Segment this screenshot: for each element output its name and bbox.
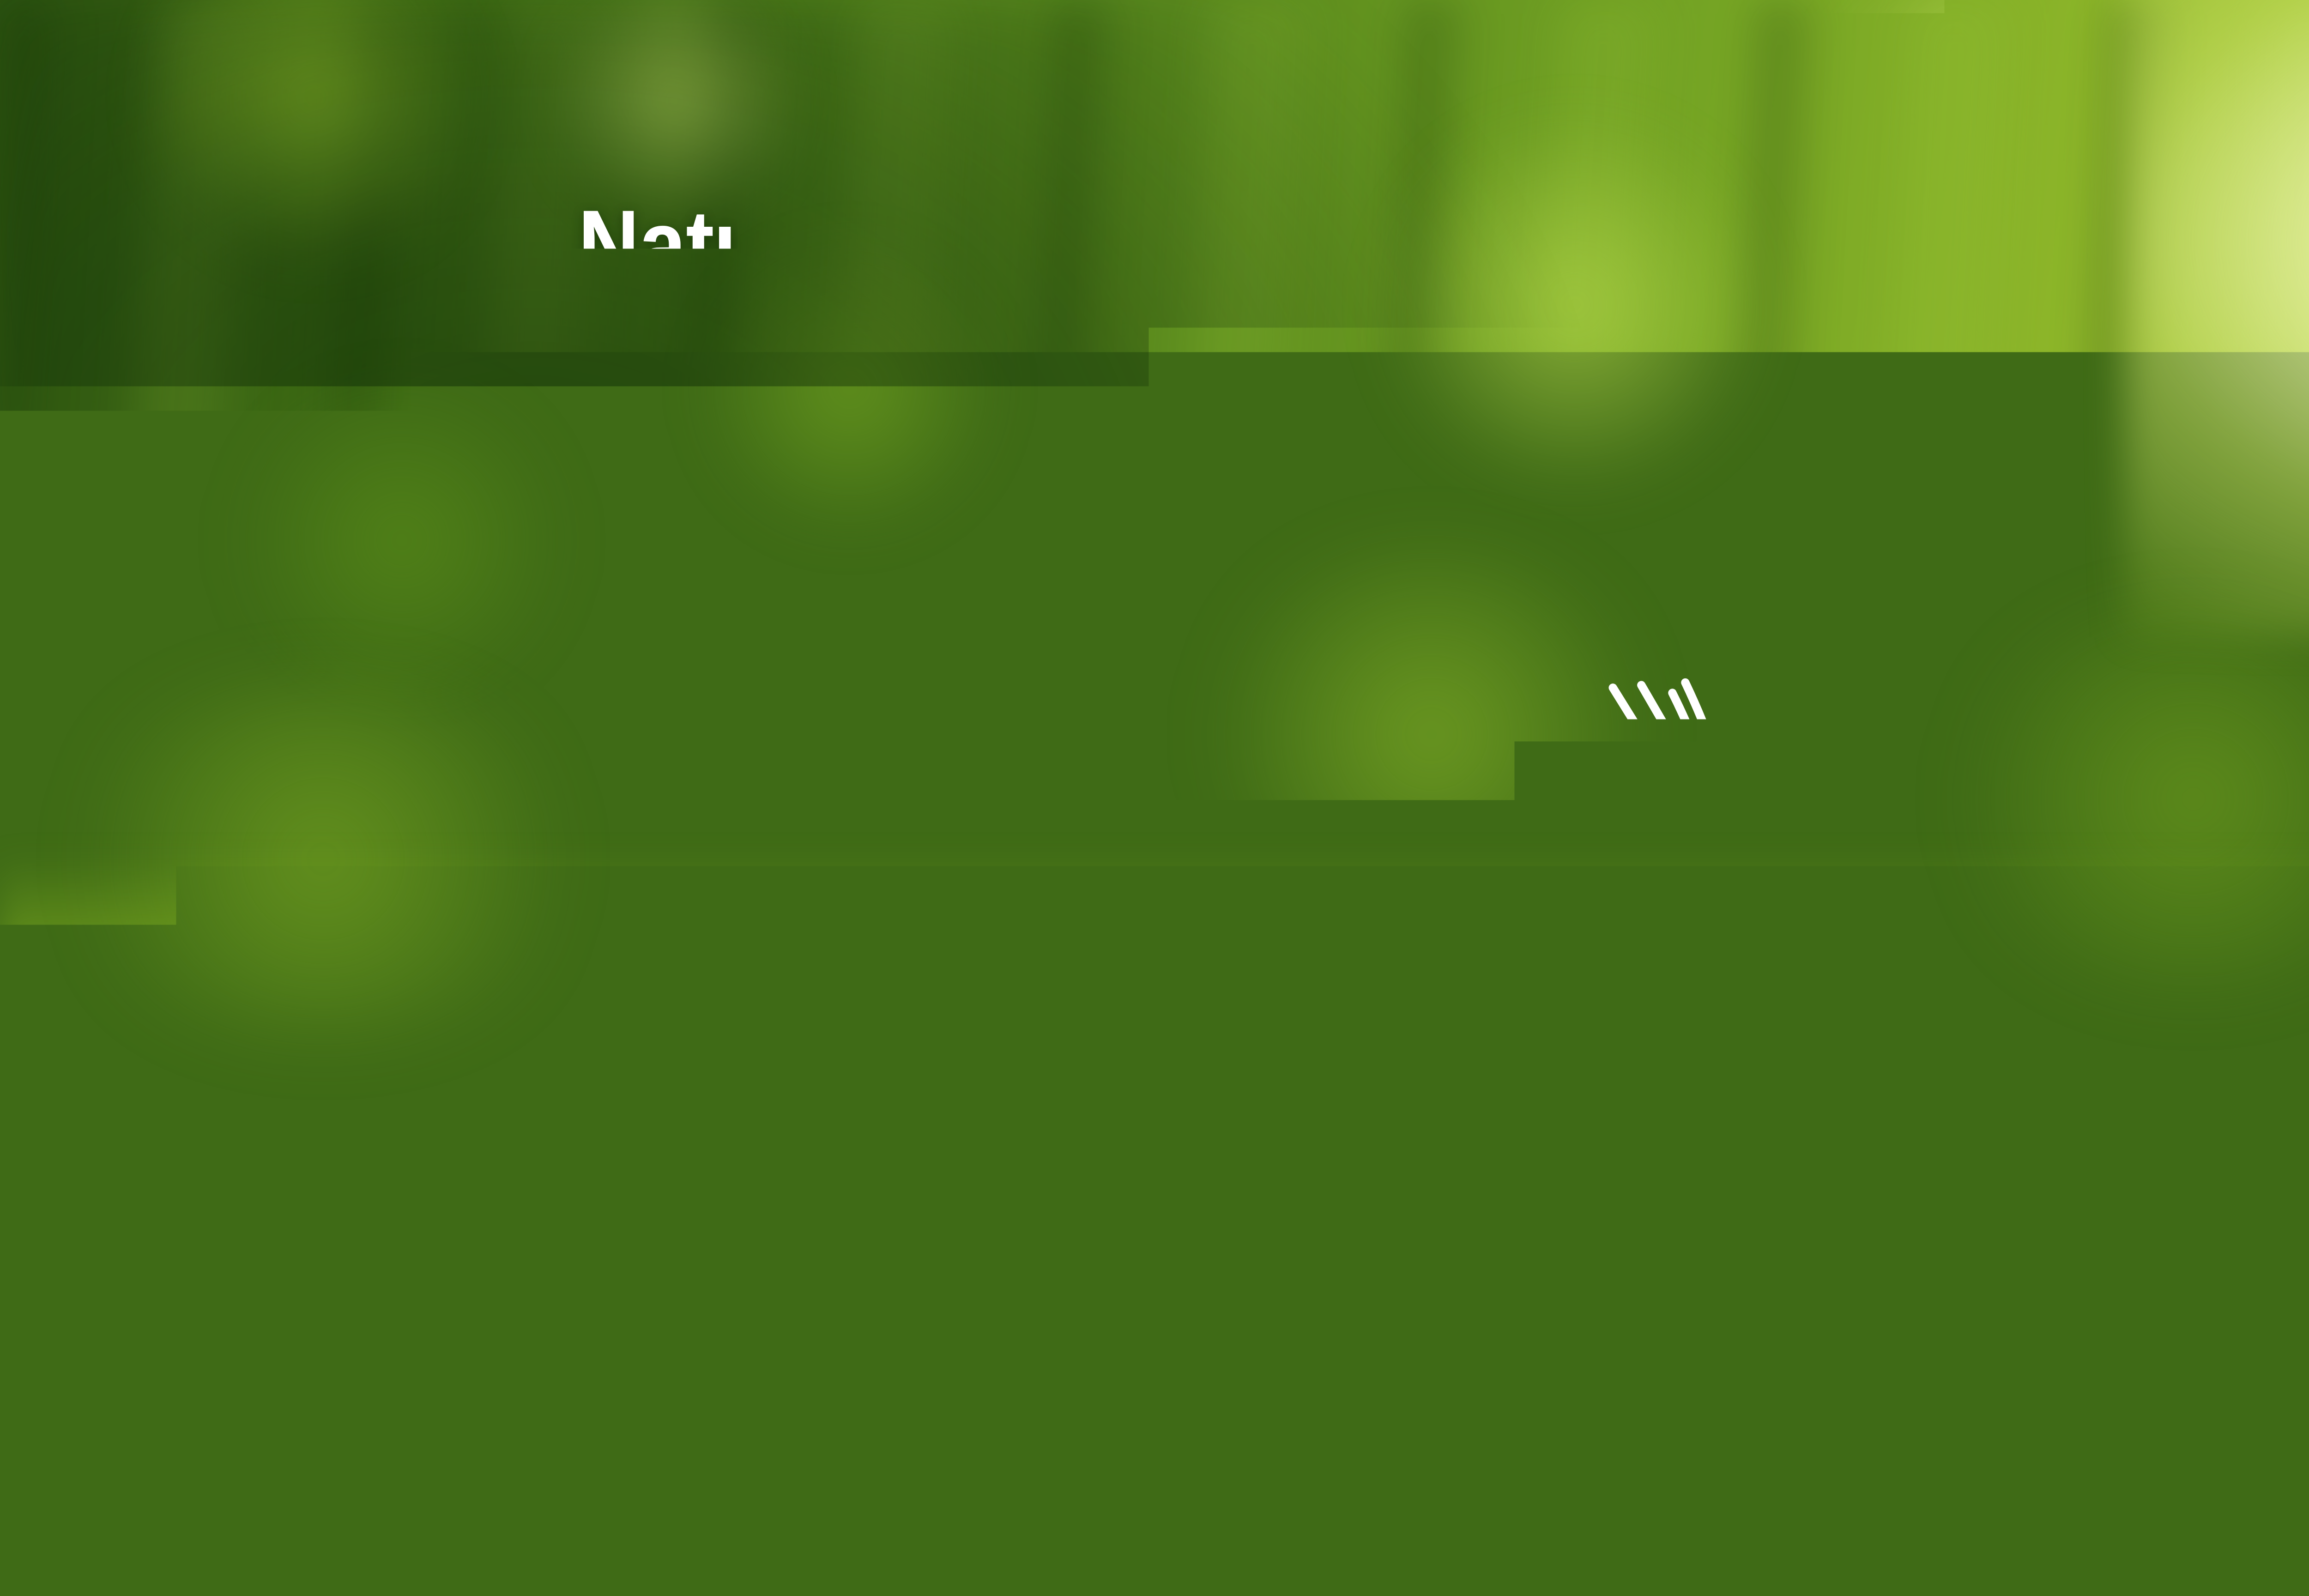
wood-knot-core bbox=[319, 1436, 406, 1469]
knee-joint-icon bbox=[1559, 660, 1817, 937]
feature-reduce-joint-pain: Reduce Joint Pain bbox=[1469, 660, 1907, 1006]
headline-block: Nature's comfort for achy joints Find yo… bbox=[0, 194, 2309, 410]
headline-secondary: Find your flow, naturally bbox=[170, 308, 2255, 410]
product-banner: Nature's comfort for achy joints Find yo… bbox=[0, 0, 2309, 1596]
feature-label: Reduce Joint Pain bbox=[1516, 953, 1861, 1006]
feature-label: Quick absorption bbox=[1995, 953, 2309, 1006]
wood-front-edge bbox=[0, 1513, 2309, 1596]
feature-quick-absorption: Quick absorption bbox=[1935, 660, 2309, 1006]
wood-table-surface bbox=[0, 1255, 2309, 1596]
feature-list: Reduce Joint Pain Quick absorption bbox=[1469, 660, 2309, 1006]
absorption-droplets-icon bbox=[2025, 660, 2284, 937]
headline-primary: Nature's comfort for achy joints bbox=[170, 194, 2255, 297]
